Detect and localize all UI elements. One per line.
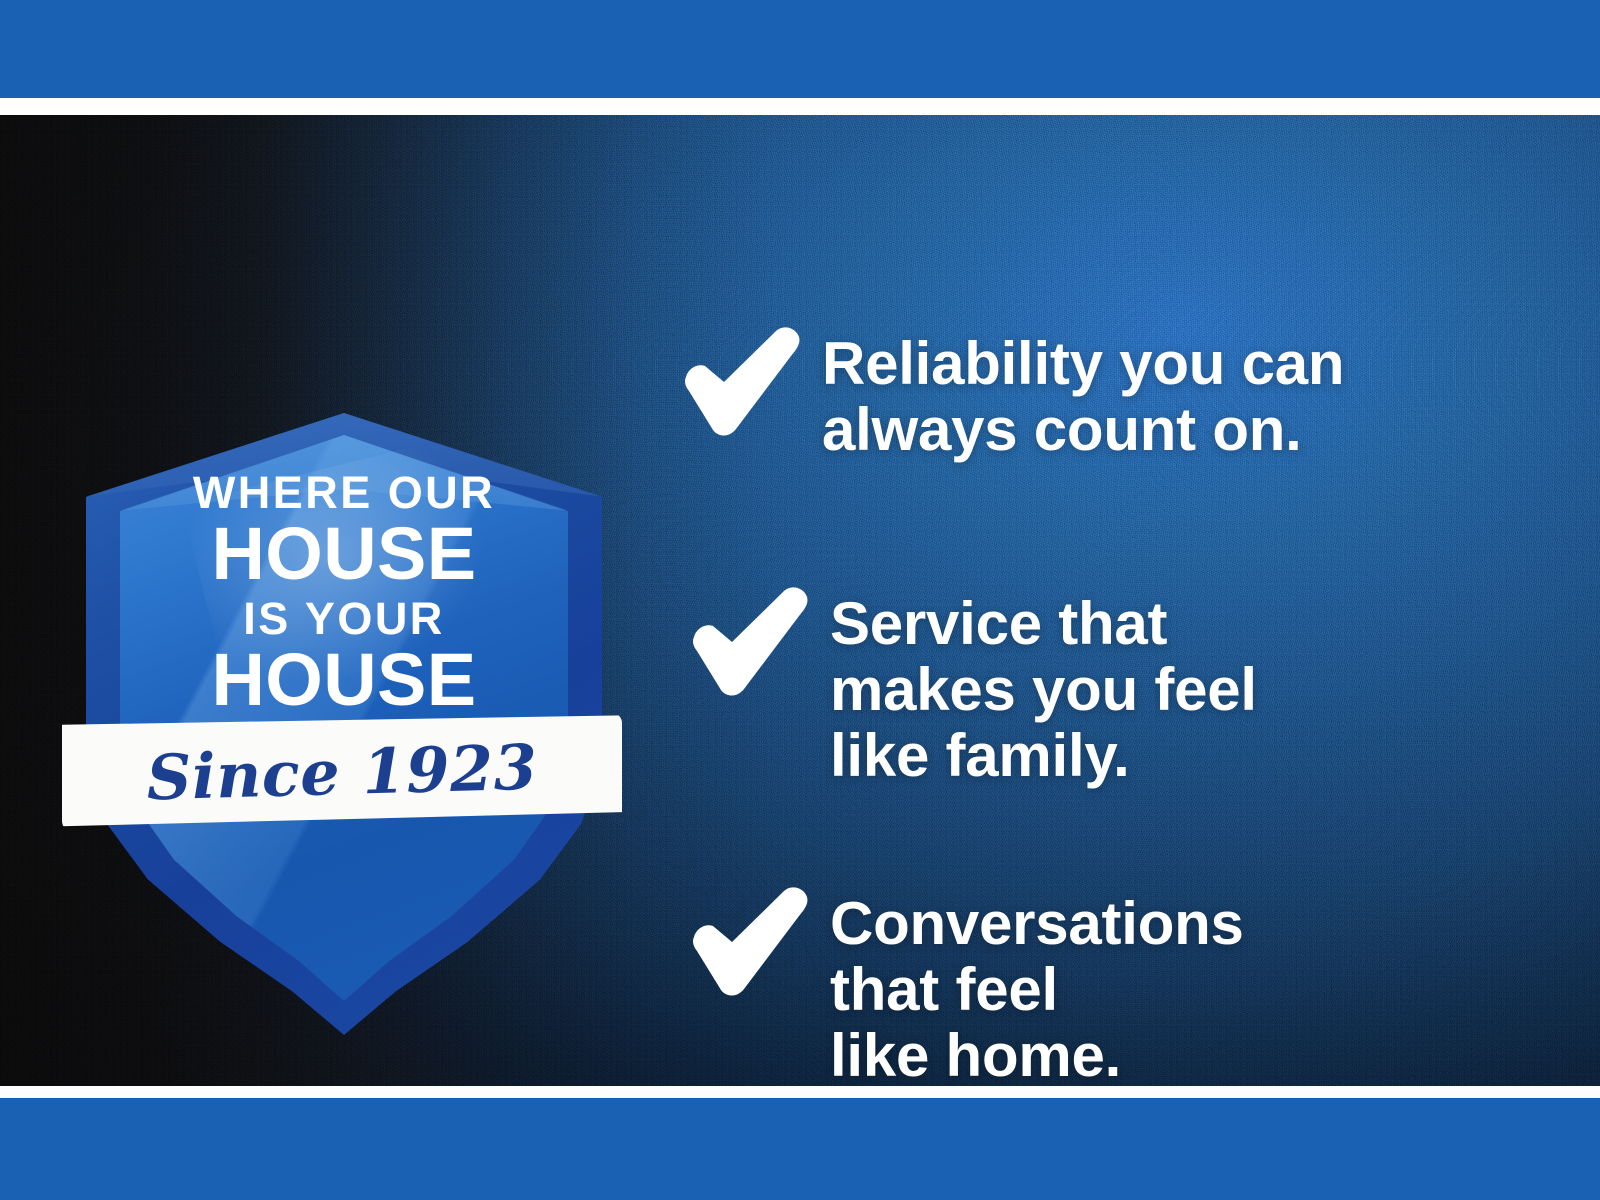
wordmark-line-2: HOUSE (120, 518, 568, 589)
check-icon (672, 325, 808, 441)
benefit-item-2: Service that makes you feel like family. (680, 585, 1257, 789)
shield-ribbon-label: Since 1923 (60, 705, 623, 839)
bottom-brand-band (0, 1098, 1600, 1200)
shield-wordmark: WHERE OUR HOUSE IS YOUR HOUSE (120, 471, 568, 715)
benefit-text-3: Conversations that feel like home. (830, 885, 1244, 1086)
benefit-2-line-1: Service that (830, 591, 1257, 657)
bottom-divider (0, 1086, 1600, 1098)
check-icon (680, 885, 816, 1001)
benefit-3-line-1: Conversations (830, 891, 1244, 957)
benefit-text-1: Reliability you can always count on. (822, 325, 1344, 463)
benefit-item-1: Reliability you can always count on. (672, 325, 1344, 463)
benefit-1-line-2: always count on. (822, 397, 1344, 463)
benefit-3-line-3: like home. (830, 1023, 1244, 1086)
artwork-panel: WHERE OUR HOUSE IS YOUR HOUSE Since 1923… (0, 115, 1600, 1086)
benefit-2-line-2: makes you feel (830, 657, 1257, 723)
check-icon (680, 585, 816, 701)
benefit-item-3: Conversations that feel like home. (680, 885, 1244, 1086)
promo-poster: WHERE OUR HOUSE IS YOUR HOUSE Since 1923… (0, 0, 1600, 1200)
benefit-2-line-3: like family. (830, 723, 1257, 789)
benefit-3-line-2: that feel (830, 957, 1244, 1023)
benefit-1-line-1: Reliability you can (822, 331, 1344, 397)
wordmark-line-3: IS YOUR (120, 597, 568, 640)
shield-badge: WHERE OUR HOUSE IS YOUR HOUSE Since 1923 (62, 275, 622, 1065)
top-divider (0, 98, 1600, 115)
wordmark-line-4: HOUSE (120, 644, 568, 715)
benefit-text-2: Service that makes you feel like family. (830, 585, 1257, 789)
wordmark-line-1: WHERE OUR (120, 471, 568, 514)
top-brand-band (0, 0, 1600, 98)
